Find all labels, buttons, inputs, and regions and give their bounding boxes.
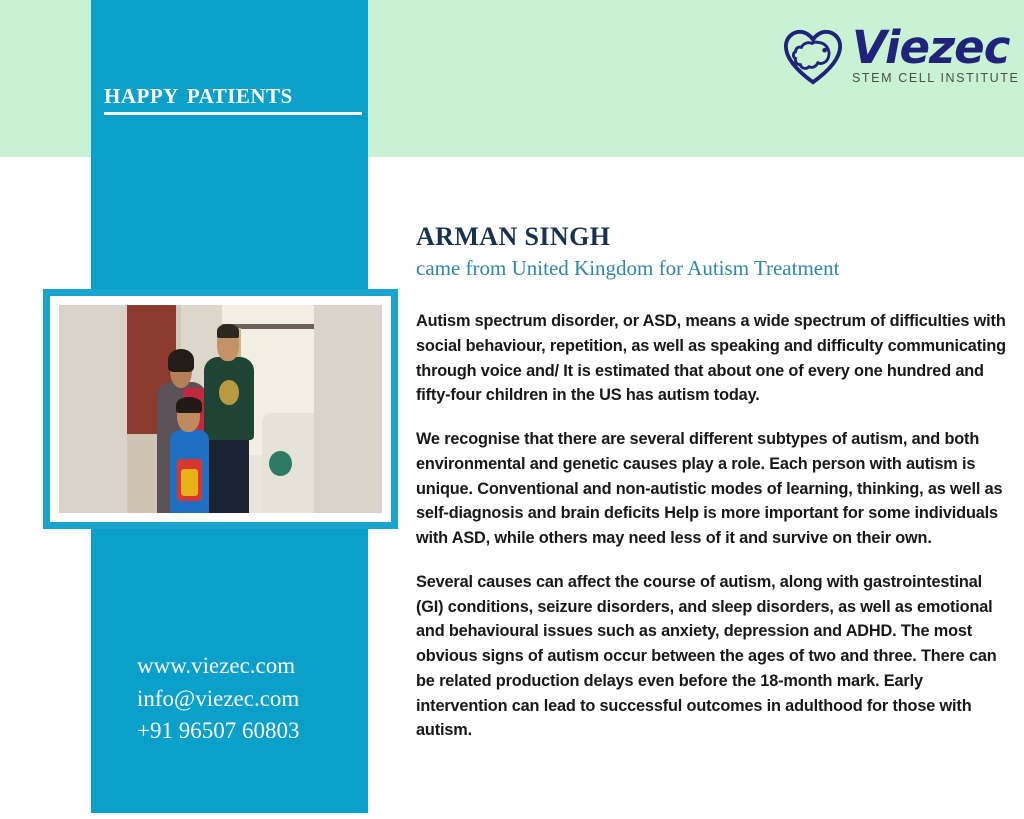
testimonial-body: Autism spectrum disorder, or ASD, means … <box>416 309 1012 743</box>
viezec-logo[interactable]: Viezec STEM CELL INSTITUTE <box>782 24 998 106</box>
patient-name: ARMAN SINGH <box>416 222 1012 252</box>
photo-person-child-hair <box>176 397 202 414</box>
happy-patients-testimonial-page: Happy Patients Viezec STEM CELL INSTITUT… <box>0 0 1024 819</box>
patient-photo-frame <box>43 289 398 529</box>
photo-bed-accent <box>269 451 291 476</box>
testimonial-content: ARMAN SINGH came from United Kingdom for… <box>416 222 1012 743</box>
logo-tagline: STEM CELL INSTITUTE <box>852 71 1019 85</box>
photo-person-father-legs <box>209 436 248 513</box>
contact-email[interactable]: info@viezec.com <box>137 683 299 716</box>
logo-text-block: Viezec STEM CELL INSTITUTE <box>852 24 1019 85</box>
header-title-block: Happy Patients <box>104 78 364 115</box>
patient-photo <box>59 305 382 513</box>
contact-website[interactable]: www.viezec.com <box>137 650 299 683</box>
body-paragraph: Several causes can affect the course of … <box>416 570 1012 743</box>
page-title: Happy Patients <box>104 78 364 110</box>
photo-person-mother-hair <box>168 349 194 372</box>
photo-person-father-shirt-emblem <box>219 380 240 405</box>
patient-photo-scene <box>127 305 314 513</box>
heart-fetus-icon <box>782 26 844 88</box>
patient-origin-treatment: came from United Kingdom for Autism Trea… <box>416 256 1012 281</box>
body-paragraph: Autism spectrum disorder, or ASD, means … <box>416 309 1012 408</box>
photo-person-child-shirt-graphic-inner <box>181 469 198 496</box>
contact-block: www.viezec.com info@viezec.com +91 96507… <box>137 650 299 748</box>
page-title-underline <box>104 112 362 115</box>
body-paragraph: We recognise that there are several diff… <box>416 427 1012 551</box>
logo-wordmark: Viezec <box>852 26 1019 70</box>
photo-person-father-hair <box>217 324 239 339</box>
contact-phone[interactable]: +91 96507 60803 <box>137 715 299 748</box>
